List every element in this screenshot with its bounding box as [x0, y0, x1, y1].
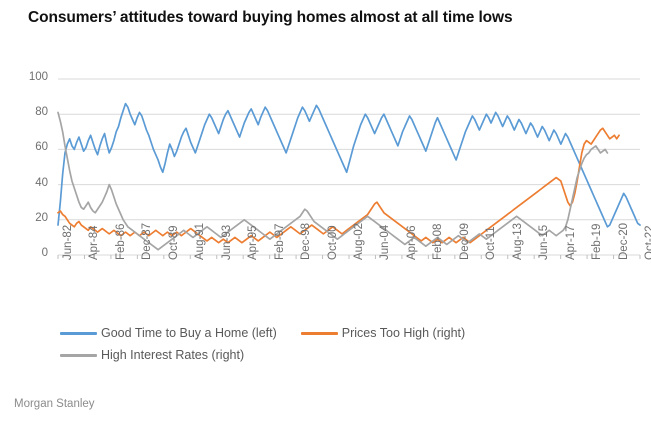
x-axis-label: Aug-91 — [194, 223, 206, 260]
x-axis-label: Dec-09 — [459, 223, 471, 260]
x-axis-label: Apr-06 — [406, 225, 418, 260]
x-axis-label: Jun-15 — [538, 225, 550, 260]
x-axis-label: Jun-04 — [379, 225, 391, 260]
chart-title: Consumers’ attitudes toward buying homes… — [28, 8, 628, 29]
x-axis-label: Jun-93 — [221, 225, 233, 260]
x-axis-label: Oct-89 — [168, 225, 180, 260]
x-axis-label: Dec-98 — [300, 223, 312, 260]
x-axis-label: Dec-20 — [618, 223, 630, 260]
x-axis-label: Feb-97 — [274, 224, 286, 260]
source-attribution: Morgan Stanley — [14, 398, 95, 410]
y-axis-label: 80 — [8, 106, 48, 118]
legend-row-1: Good Time to Buy a Home (left) Prices To… — [60, 326, 620, 340]
y-axis-label: 100 — [8, 71, 48, 83]
x-axis-label: Oct-11 — [485, 226, 497, 260]
legend-label-prices-too-high: Prices Too High (right) — [342, 326, 465, 340]
x-axis-label: Feb-86 — [115, 224, 127, 260]
chart-container: Consumers’ attitudes toward buying homes… — [0, 0, 651, 430]
x-axis-label: Apr-17 — [565, 225, 577, 260]
x-axis-label: Aug-02 — [353, 223, 365, 260]
x-axis-label: Feb-08 — [432, 224, 444, 260]
chart-legend: Good Time to Buy a Home (left) Prices To… — [60, 326, 620, 370]
legend-label-good-time-to-buy: Good Time to Buy a Home (left) — [101, 326, 277, 340]
x-axis: Jun-82Apr-84Feb-86Dec-87Oct-89Aug-91Jun-… — [0, 258, 651, 318]
x-axis-label: Feb-19 — [591, 224, 603, 260]
series-line-0 — [58, 104, 640, 227]
legend-item-high-interest-rates[interactable]: High Interest Rates (right) — [60, 348, 244, 362]
legend-item-good-time-to-buy[interactable]: Good Time to Buy a Home (left) — [60, 326, 277, 340]
y-axis-label: 60 — [8, 141, 48, 153]
legend-row-2: High Interest Rates (right) — [60, 348, 620, 362]
legend-item-prices-too-high[interactable]: Prices Too High (right) — [301, 326, 465, 340]
x-axis-label: Jun-82 — [62, 225, 74, 260]
x-axis-label: Oct-00 — [327, 225, 339, 260]
x-axis-label: Aug-13 — [512, 223, 524, 260]
legend-swatch-blue — [60, 332, 97, 335]
x-axis-label: Apr-84 — [88, 225, 100, 260]
legend-swatch-orange — [301, 332, 338, 335]
x-axis-label: Apr-95 — [247, 225, 259, 260]
legend-label-high-interest-rates: High Interest Rates (right) — [101, 348, 244, 362]
y-axis-label: 20 — [8, 212, 48, 224]
x-axis-label: Dec-87 — [141, 223, 153, 260]
x-axis-label: Oct-22 — [644, 225, 651, 260]
legend-swatch-gray — [60, 354, 97, 357]
y-axis-label: 40 — [8, 177, 48, 189]
